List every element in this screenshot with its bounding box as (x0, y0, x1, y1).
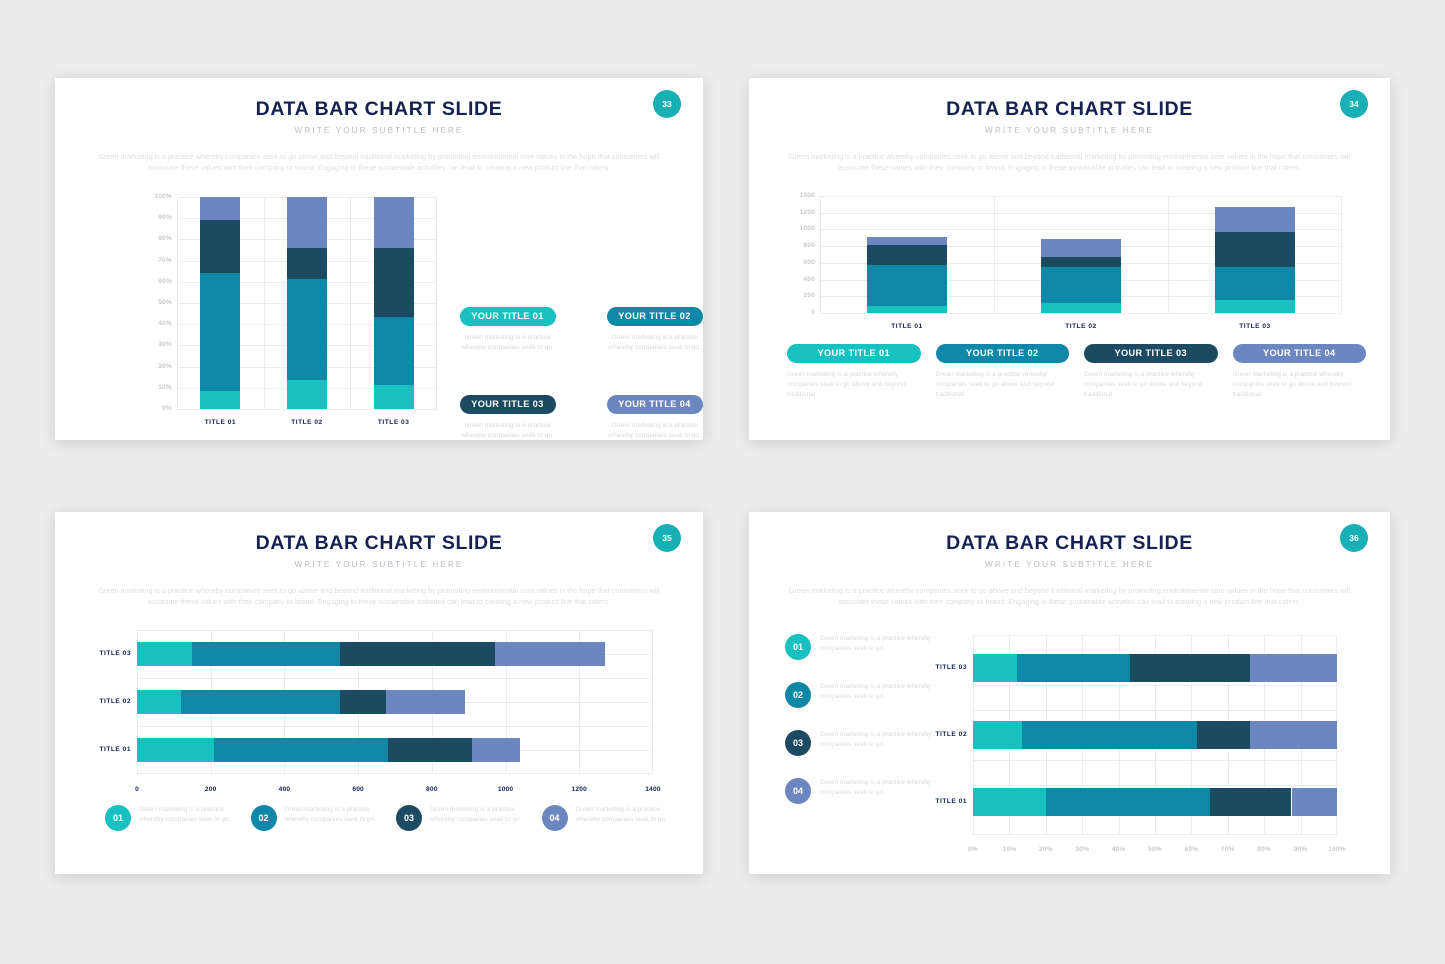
bar-segment (287, 248, 327, 279)
legend-item: YOUR TITLE 04Green marketing is a practi… (1233, 343, 1367, 400)
bar-stack (374, 197, 414, 409)
page-subtitle: WRITE YOUR SUBTITLE HERE (55, 126, 703, 135)
page-number-badge: 36 (1340, 524, 1368, 552)
bar-segment (1215, 300, 1295, 313)
bar-segment (374, 197, 414, 248)
grid-line-vertical (994, 196, 995, 313)
x-axis-tick-label: 40% (1099, 846, 1139, 853)
legend-item: YOUR TITLE 03Green marketing is a practi… (1084, 343, 1218, 400)
grid-line-horizontal (177, 409, 437, 410)
page-title: DATA BAR CHART SLIDE (749, 98, 1390, 121)
grid-line-horizontal (137, 773, 653, 774)
bar-segment (1041, 267, 1121, 303)
bar-stack (137, 690, 653, 714)
grid-line-horizontal (973, 834, 1337, 835)
grid-line-horizontal (137, 678, 653, 679)
bar-stack (137, 642, 653, 666)
slide-header: DATA BAR CHART SLIDE WRITE YOUR SUBTITLE… (55, 512, 703, 569)
bar-segment (867, 237, 947, 245)
intro-paragraph: Green marketing is a practice whereby co… (89, 585, 669, 608)
x-axis-tick-label: 200 (186, 786, 236, 793)
legend-pill-button[interactable]: YOUR TITLE 02 (607, 307, 703, 326)
bar-segment (137, 738, 214, 762)
bar-segment (1215, 267, 1295, 300)
chart-plot-area: 0200400600800100012001400TITLE 01TITLE 0… (820, 196, 1342, 313)
legend-description: Green marketing is a practice whereby co… (820, 682, 945, 702)
bar-segment (1215, 207, 1295, 232)
bar-segment (1041, 239, 1121, 257)
bar-segment (374, 248, 414, 317)
page-title: DATA BAR CHART SLIDE (55, 98, 703, 121)
bar-segment (214, 738, 387, 762)
x-axis-tick-label: 0% (953, 846, 993, 853)
page-subtitle: WRITE YOUR SUBTITLE HERE (749, 126, 1390, 135)
intro-paragraph: Green marketing is a practice whereby co… (89, 151, 669, 174)
bar-segment (287, 197, 327, 248)
bar-segment (1130, 654, 1250, 682)
chart-legend: 01Green marketing is a practice whereby … (105, 805, 673, 831)
bar-segment (137, 690, 181, 714)
grid-line-vertical (1168, 196, 1169, 313)
grid-line-horizontal (820, 313, 1342, 314)
legend-number-circle[interactable]: 02 (785, 682, 811, 708)
legend-item: YOUR TITLE 01Green marketing is a practi… (455, 306, 560, 353)
bar-segment (1046, 788, 1210, 816)
chart-legend: YOUR TITLE 01Green marketing is a practi… (787, 343, 1366, 400)
x-axis-tick-label: 10% (989, 846, 1029, 853)
slide-header: DATA BAR CHART SLIDE WRITE YOUR SUBTITLE… (749, 78, 1390, 135)
intro-paragraph: Green marketing is a practice whereby co… (783, 585, 1356, 608)
legend-description: Green marketing is a practice whereby co… (285, 805, 383, 825)
legend-item: 03Green marketing is a practice whereby … (396, 805, 528, 831)
bar-segment (374, 317, 414, 385)
x-axis-tick-label: 70% (1208, 846, 1248, 853)
legend-description: Green marketing is a practice whereby co… (820, 778, 945, 798)
legend-pill-button[interactable]: YOUR TITLE 04 (1233, 344, 1367, 363)
bar-stack (1215, 196, 1295, 313)
bar-segment (1041, 257, 1121, 267)
bar-segment (1250, 654, 1337, 682)
grid-line-horizontal (973, 635, 1337, 636)
y-axis-tick-label: 0% (140, 405, 172, 412)
page-subtitle: WRITE YOUR SUBTITLE HERE (55, 560, 703, 569)
bar-segment (472, 738, 520, 762)
x-axis-tick-label: 50% (1135, 846, 1175, 853)
x-axis-tick-label: 80% (1244, 846, 1284, 853)
grid-line-horizontal (137, 726, 653, 727)
legend-pill-button[interactable]: YOUR TITLE 01 (460, 307, 556, 326)
bar-segment (867, 306, 947, 313)
x-axis-category-label: TITLE 02 (267, 419, 347, 426)
page-title: DATA BAR CHART SLIDE (55, 532, 703, 555)
legend-description: Green marketing is a practice whereby co… (576, 805, 674, 825)
bar-segment (200, 220, 240, 273)
y-axis-tick-label: 50% (140, 299, 172, 306)
y-axis-tick-label: 80% (140, 235, 172, 242)
bar-segment (200, 197, 240, 220)
bar-segment (340, 690, 386, 714)
x-axis-category-label: TITLE 03 (1205, 323, 1305, 330)
bar-segment (867, 265, 947, 307)
y-axis-tick-label: 1000 (786, 225, 815, 232)
legend-pill-button[interactable]: YOUR TITLE 02 (936, 344, 1070, 363)
legend-item: 04Green marketing is a practice whereby … (785, 778, 945, 804)
intro-paragraph: Green marketing is a practice whereby co… (783, 151, 1356, 174)
slide-header: DATA BAR CHART SLIDE WRITE YOUR SUBTITLE… (749, 512, 1390, 569)
legend-item: YOUR TITLE 01Green marketing is a practi… (787, 343, 921, 400)
chart-plot-area: 0200400600800100012001400TITLE 03TITLE 0… (137, 630, 653, 774)
legend-number-circle[interactable]: 02 (251, 805, 277, 831)
y-axis-tick-label: 20% (140, 363, 172, 370)
legend-number-circle[interactable]: 03 (785, 730, 811, 756)
bar-segment (374, 385, 414, 409)
legend-pill-button[interactable]: YOUR TITLE 01 (787, 344, 921, 363)
chart-plot-area: 0%10%20%30%40%50%60%70%80%90%100%TITLE 0… (177, 197, 437, 409)
slide-header: DATA BAR CHART SLIDE WRITE YOUR SUBTITLE… (55, 78, 703, 135)
slide-card-35[interactable]: DATA BAR CHART SLIDE WRITE YOUR SUBTITLE… (55, 512, 703, 874)
legend-item: YOUR TITLE 02Green marketing is a practi… (602, 306, 707, 353)
slide-deck-canvas: DATA BAR CHART SLIDE WRITE YOUR SUBTITLE… (0, 0, 1445, 964)
legend-item: 03Green marketing is a practice whereby … (785, 730, 945, 756)
x-axis-tick-label: 20% (1026, 846, 1066, 853)
grid-line-vertical (350, 197, 351, 409)
legend-number-circle[interactable]: 01 (785, 634, 811, 660)
bar-segment (287, 380, 327, 409)
x-axis-tick-label: 90% (1281, 846, 1321, 853)
y-axis-tick-label: 400 (786, 276, 815, 283)
bar-segment (200, 391, 240, 409)
legend-description: Green marketing is a practice whereby co… (455, 333, 560, 353)
grid-line-horizontal (973, 760, 1337, 761)
legend-description: Green marketing is a practice whereby co… (602, 333, 707, 353)
y-axis-tick-label: 1400 (786, 192, 815, 199)
bar-stack (200, 197, 240, 409)
bar-segment (181, 690, 339, 714)
bar-stack (867, 196, 947, 313)
legend-description: Green marketing is a practice whereby co… (936, 370, 1070, 400)
page-subtitle: WRITE YOUR SUBTITLE HERE (749, 560, 1390, 569)
y-axis-tick-label: 100% (140, 193, 172, 200)
x-axis-tick-label: 100% (1317, 846, 1357, 853)
bar-segment (137, 642, 192, 666)
legend-item: 04Green marketing is a practice whereby … (542, 805, 674, 831)
bar-segment (386, 690, 465, 714)
legend-description: Green marketing is a practice whereby co… (455, 421, 560, 441)
legend-item: YOUR TITLE 04Green marketing is a practi… (602, 394, 707, 441)
bar-stack (973, 721, 1337, 749)
slide-card-34[interactable]: DATA BAR CHART SLIDE WRITE YOUR SUBTITLE… (749, 78, 1390, 440)
page-number-badge: 33 (653, 90, 681, 118)
x-axis-category-label: TITLE 03 (354, 419, 434, 426)
bar-segment (388, 738, 473, 762)
grid-line-horizontal (973, 710, 1337, 711)
slide-card-36[interactable]: DATA BAR CHART SLIDE WRITE YOUR SUBTITLE… (749, 512, 1390, 874)
legend-description: Green marketing is a practice whereby co… (787, 370, 921, 400)
bar-segment (495, 642, 606, 666)
legend-description: Green marketing is a practice whereby co… (139, 805, 237, 825)
slide-card-33[interactable]: DATA BAR CHART SLIDE WRITE YOUR SUBTITLE… (55, 78, 703, 440)
bar-stack (1041, 196, 1121, 313)
x-axis-category-label: TITLE 01 (857, 323, 957, 330)
bar-segment (287, 279, 327, 381)
legend-pill-button[interactable]: YOUR TITLE 03 (460, 395, 556, 414)
bar-segment (1017, 654, 1130, 682)
y-axis-tick-label: 200 (786, 292, 815, 299)
legend-pill-button[interactable]: YOUR TITLE 04 (607, 395, 703, 414)
legend-item: 02Green marketing is a practice whereby … (785, 682, 945, 708)
grid-line-vertical (436, 197, 437, 409)
page-title: DATA BAR CHART SLIDE (749, 532, 1390, 555)
bar-stack (973, 654, 1337, 682)
y-axis-category-label: TITLE 03 (79, 650, 131, 657)
legend-number-circle[interactable]: 03 (396, 805, 422, 831)
y-axis-tick-label: 0 (786, 309, 815, 316)
bar-segment (973, 788, 1046, 816)
legend-description: Green marketing is a practice whereby co… (602, 421, 707, 441)
bar-segment (340, 642, 495, 666)
legend-item: 01Green marketing is a practice whereby … (785, 634, 945, 660)
bar-stack (973, 788, 1337, 816)
bar-stack (287, 197, 327, 409)
bar-segment (867, 245, 947, 264)
bar-segment (200, 273, 240, 391)
bar-segment (973, 654, 1017, 682)
legend-pill-button[interactable]: YOUR TITLE 03 (1084, 344, 1218, 363)
bar-segment (1197, 721, 1250, 749)
legend-item: YOUR TITLE 02Green marketing is a practi… (936, 343, 1070, 400)
legend-description: Green marketing is a practice whereby co… (820, 634, 945, 654)
x-axis-tick-label: 600 (333, 786, 383, 793)
y-axis-tick-label: 10% (140, 384, 172, 391)
x-axis-tick-label: 1400 (628, 786, 678, 793)
y-axis-tick-label: 800 (786, 242, 815, 249)
page-number-badge: 35 (653, 524, 681, 552)
grid-line-horizontal (973, 785, 1337, 786)
legend-item: YOUR TITLE 03Green marketing is a practi… (455, 394, 560, 441)
legend-number-circle[interactable]: 04 (785, 778, 811, 804)
grid-line-vertical (820, 196, 821, 313)
legend-number-circle[interactable]: 04 (542, 805, 568, 831)
x-axis-tick-label: 0 (112, 786, 162, 793)
legend-description: Green marketing is a practice whereby co… (820, 730, 945, 750)
y-axis-tick-label: 1200 (786, 209, 815, 216)
y-axis-category-label: TITLE 02 (79, 698, 131, 705)
bar-segment (1250, 721, 1337, 749)
chart-plot-area: 0%10%20%30%40%50%60%70%80%90%100%TITLE 0… (973, 635, 1337, 835)
x-axis-category-label: TITLE 02 (1031, 323, 1131, 330)
y-axis-category-label: TITLE 01 (79, 746, 131, 753)
x-axis-tick-label: 800 (407, 786, 457, 793)
x-axis-category-label: TITLE 01 (180, 419, 260, 426)
legend-number-circle[interactable]: 01 (105, 805, 131, 831)
legend-item: 01Green marketing is a practice whereby … (105, 805, 237, 831)
grid-line-vertical (1341, 196, 1342, 313)
grid-line-vertical (264, 197, 265, 409)
bar-segment (1292, 788, 1338, 816)
bar-segment (192, 642, 339, 666)
legend-description: Green marketing is a practice whereby co… (1084, 370, 1218, 400)
x-axis-tick-label: 1200 (554, 786, 604, 793)
bar-segment (1210, 788, 1292, 816)
bar-segment (973, 721, 1022, 749)
grid-line-horizontal (973, 685, 1337, 686)
y-axis-tick-label: 600 (786, 259, 815, 266)
bar-stack (137, 738, 653, 762)
legend-description: Green marketing is a practice whereby co… (430, 805, 528, 825)
page-number-badge: 34 (1340, 90, 1368, 118)
y-axis-tick-label: 60% (140, 278, 172, 285)
y-axis-tick-label: 90% (140, 214, 172, 221)
grid-line-vertical (177, 197, 178, 409)
legend-item: 02Green marketing is a practice whereby … (251, 805, 383, 831)
legend-description: Green marketing is a practice whereby co… (1233, 370, 1367, 400)
grid-line-horizontal (137, 630, 653, 631)
bar-segment (1041, 303, 1121, 313)
y-axis-tick-label: 70% (140, 257, 172, 264)
x-axis-tick-label: 60% (1171, 846, 1211, 853)
x-axis-tick-label: 400 (259, 786, 309, 793)
x-axis-tick-label: 1000 (481, 786, 531, 793)
chart-legend: 01Green marketing is a practice whereby … (785, 634, 945, 826)
bar-segment (1022, 721, 1197, 749)
bar-segment (1215, 232, 1295, 267)
y-axis-tick-label: 30% (140, 341, 172, 348)
x-axis-tick-label: 30% (1062, 846, 1102, 853)
y-axis-tick-label: 40% (140, 320, 172, 327)
